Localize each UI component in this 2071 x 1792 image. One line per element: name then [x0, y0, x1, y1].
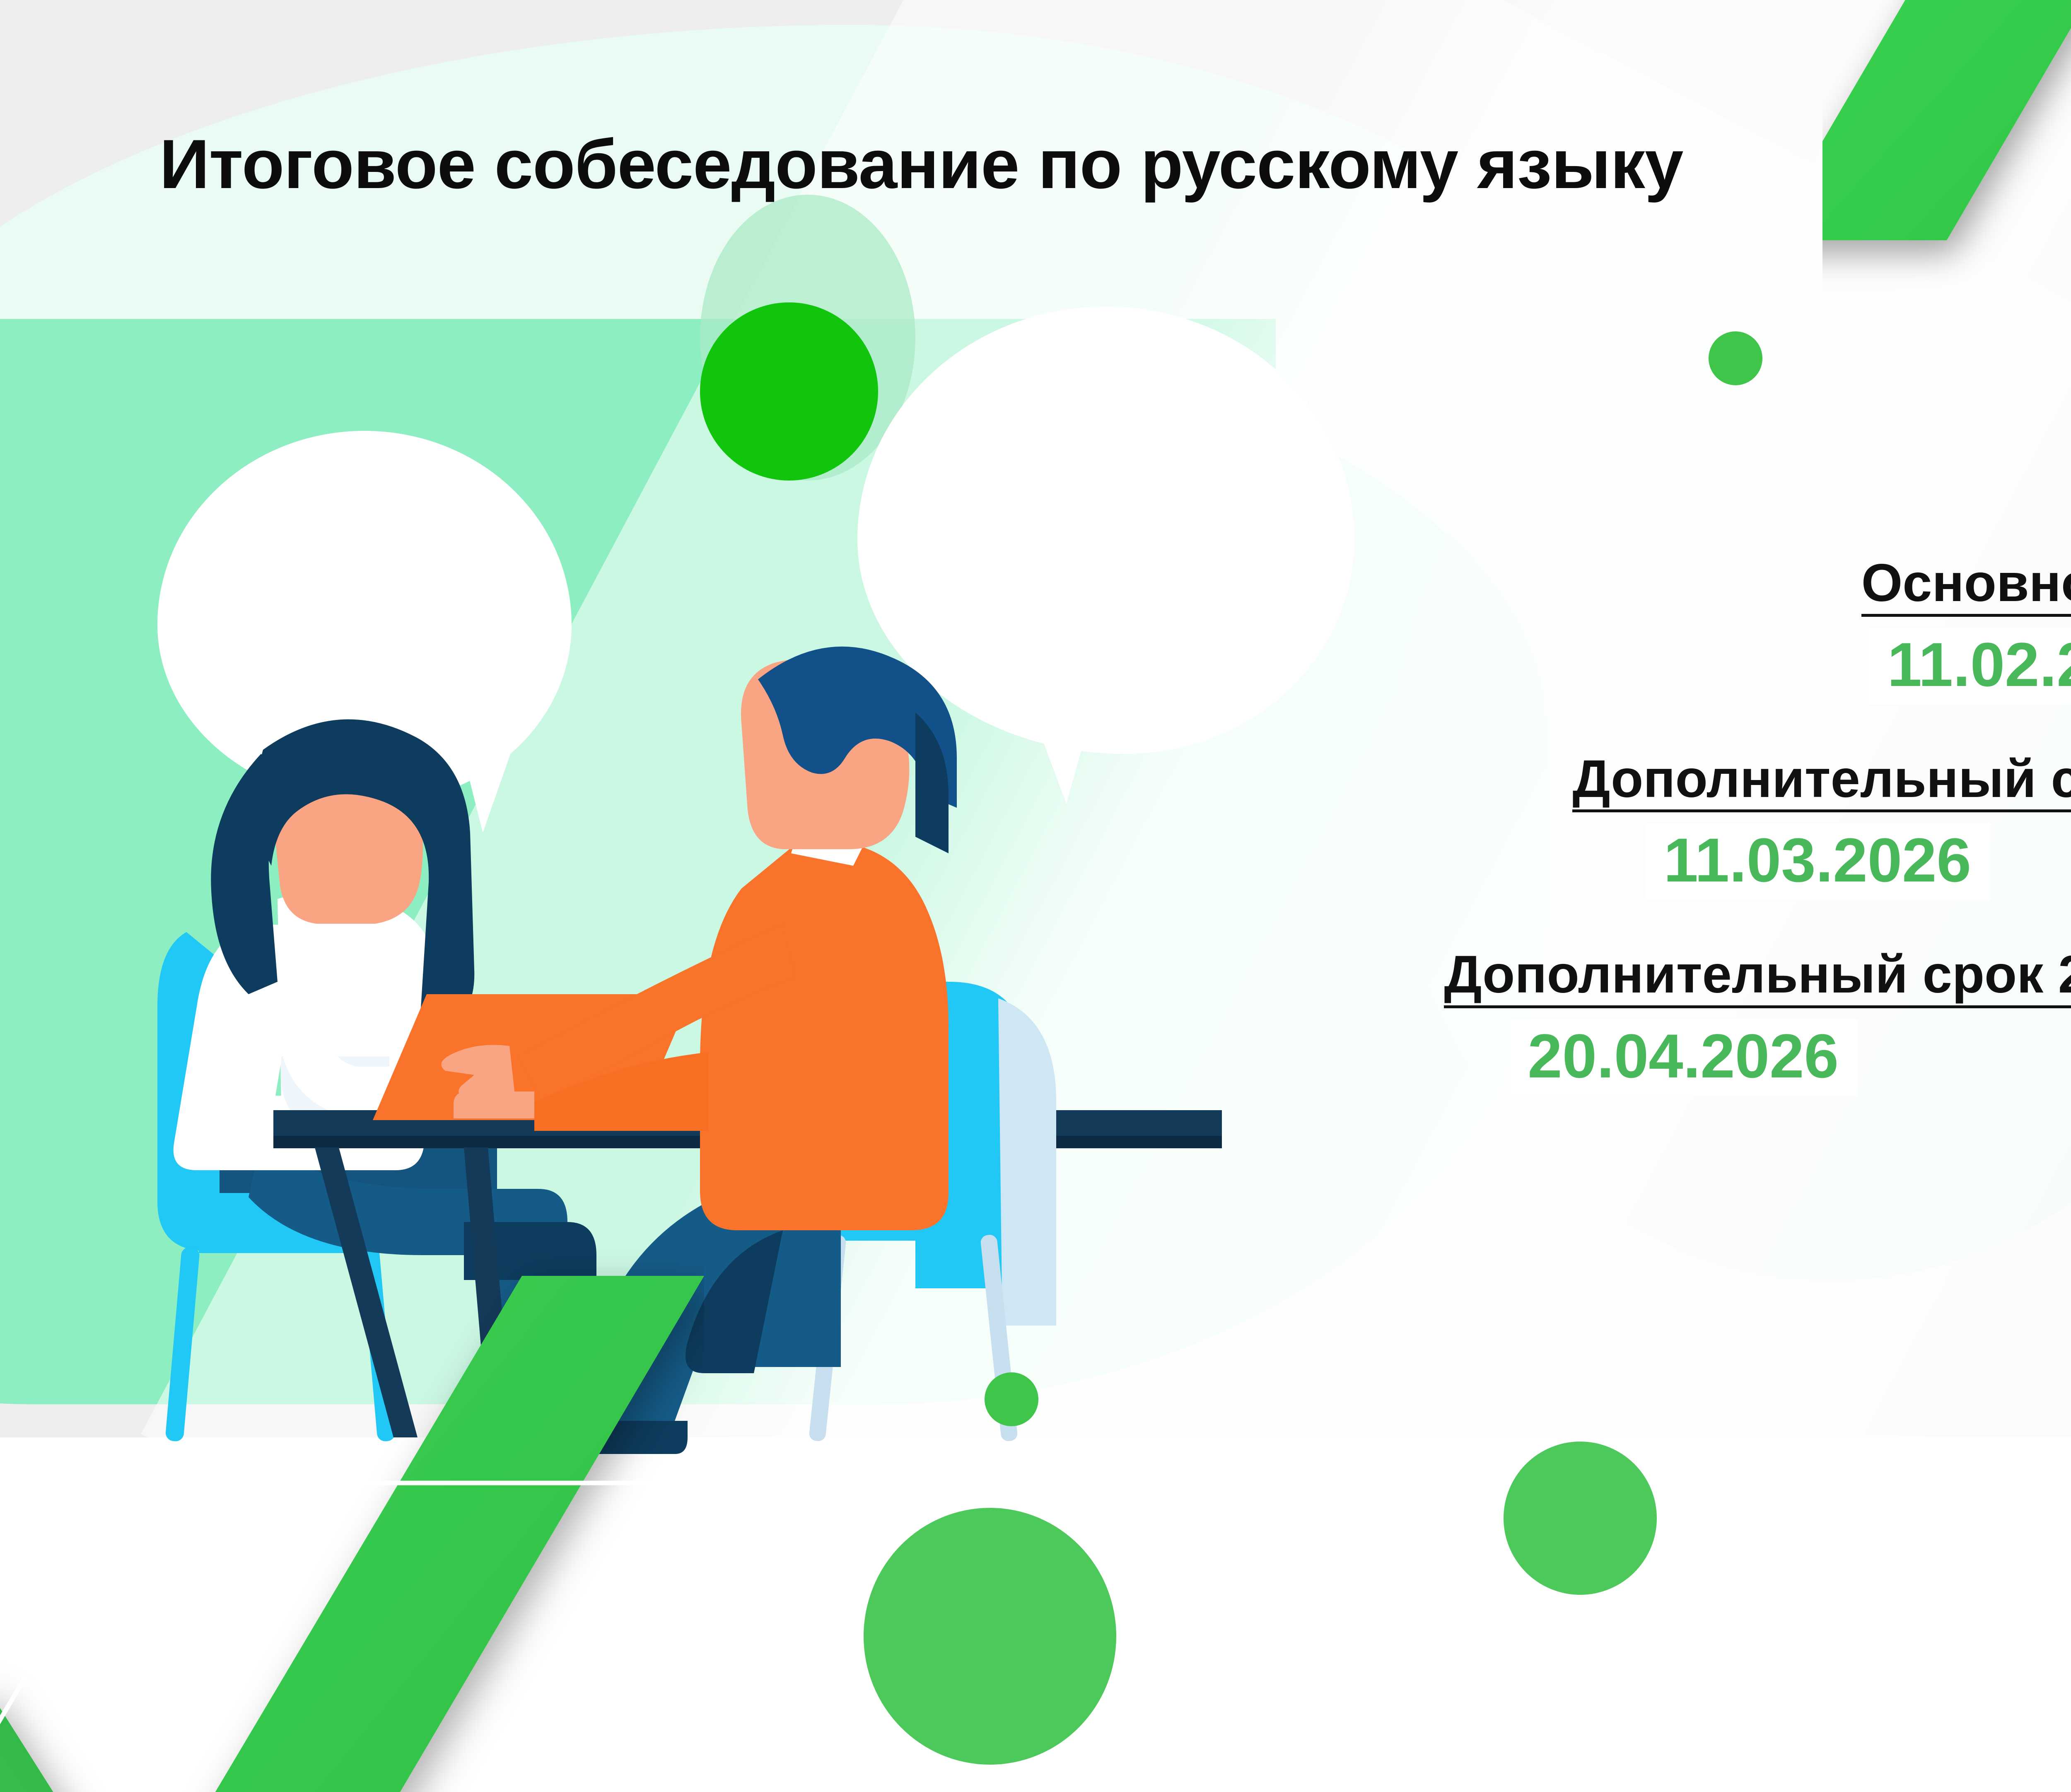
poster-canvas: Итоговое собеседование по русскому языку… [0, 0, 2071, 1792]
date-value-extra-1: 11.03.2026 [1664, 829, 1971, 891]
decor-dot-top-right [1709, 331, 1762, 385]
date-label-main: Основной срок [1861, 555, 2071, 617]
decor-circle-bottom-large [864, 1508, 1116, 1765]
date-block-extra-2: Дополнительный срок 2 20.04.2026 [1444, 947, 2071, 1096]
date-label-extra-1: Дополнительный срок 1 [1572, 751, 2071, 813]
page-title: Итоговое собеседование по русскому языку [159, 124, 1683, 204]
date-label-extra-2: Дополнительный срок 2 [1444, 947, 2071, 1008]
date-value-extra-2: 20.04.2026 [1528, 1025, 1839, 1087]
date-value-box-extra-1: 11.03.2026 [1645, 823, 1990, 900]
date-value-box-extra-2: 20.04.2026 [1509, 1019, 1858, 1096]
date-value-main: 11.02.2026 [1888, 633, 2071, 696]
date-value-box-main: 11.02.2026 [1868, 628, 2071, 705]
date-block-extra-1: Дополнительный срок 1 11.03.2026 [1572, 751, 2071, 901]
date-block-main: Основной срок 11.02.2026 [1861, 555, 2071, 705]
decor-dot-bottom-center [985, 1372, 1038, 1426]
decor-circle-bottom-right [1504, 1442, 1657, 1595]
exam-dates-list: Основной срок 11.02.2026 Дополнительный … [1035, 555, 2071, 1096]
decor-circle-green-top [700, 302, 878, 481]
